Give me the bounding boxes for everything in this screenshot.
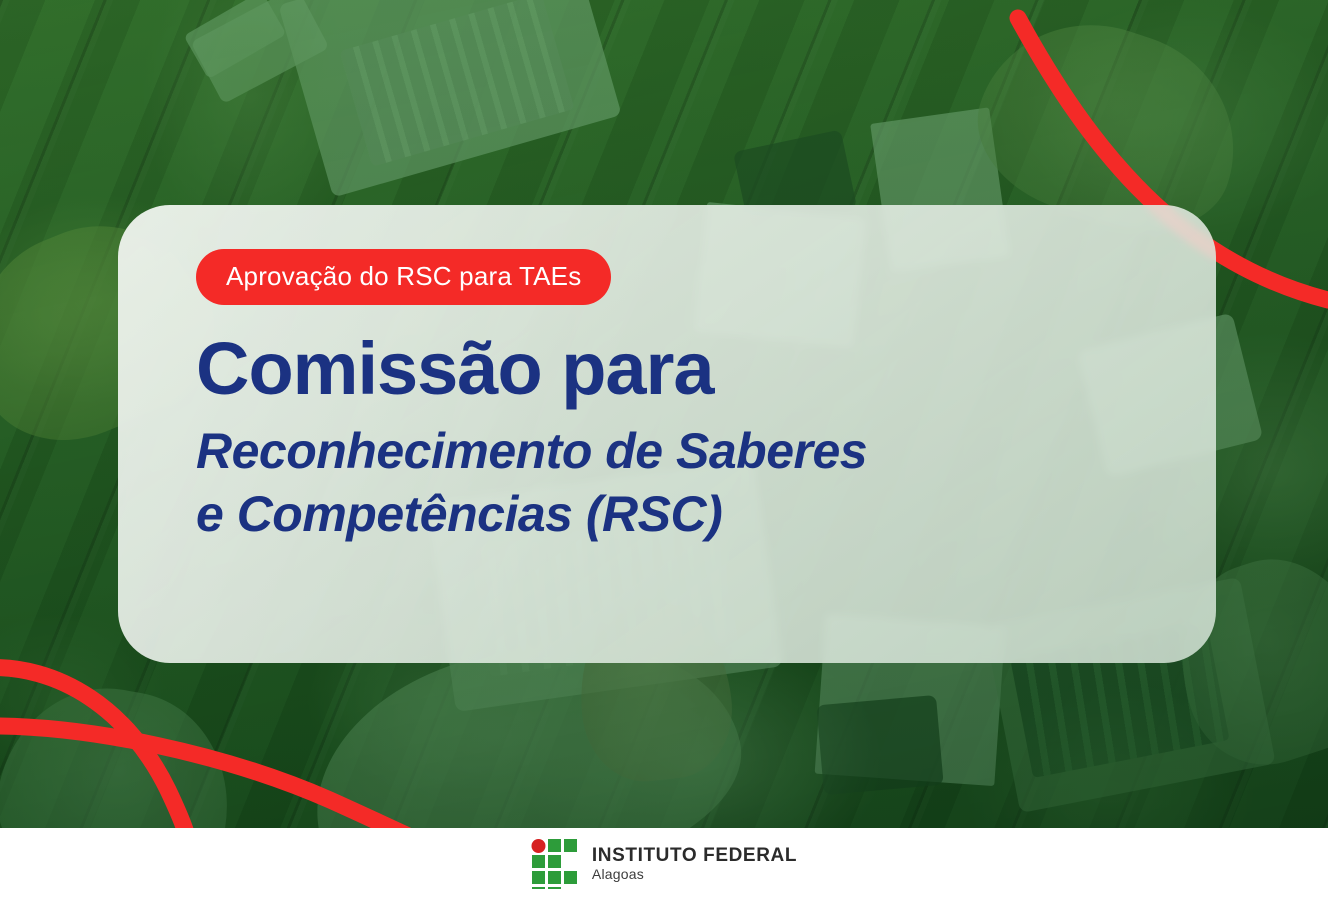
page-subtitle-line-2: e Competências (RSC) — [196, 483, 1216, 546]
footer-bar: INSTITUTO FEDERAL Alagoas — [0, 828, 1328, 900]
instituto-federal-grid-icon — [531, 839, 578, 889]
logo-title: INSTITUTO FEDERAL — [592, 845, 797, 866]
status-badge: Aprovação do RSC para TAEs — [196, 249, 611, 305]
logo-wordmark: INSTITUTO FEDERAL Alagoas — [592, 845, 797, 883]
page-title: Comissão para — [196, 331, 1216, 408]
headline-card: Aprovação do RSC para TAEs Comissão para… — [118, 205, 1216, 663]
headline-card-content: Aprovação do RSC para TAEs Comissão para… — [118, 205, 1216, 546]
logo-subtitle: Alagoas — [592, 866, 797, 883]
rsc-announcement-banner: Aprovação do RSC para TAEs Comissão para… — [0, 0, 1328, 900]
page-subtitle-line-1: Reconhecimento de Saberes — [196, 420, 1216, 483]
instituto-federal-logo: INSTITUTO FEDERAL Alagoas — [531, 839, 797, 889]
